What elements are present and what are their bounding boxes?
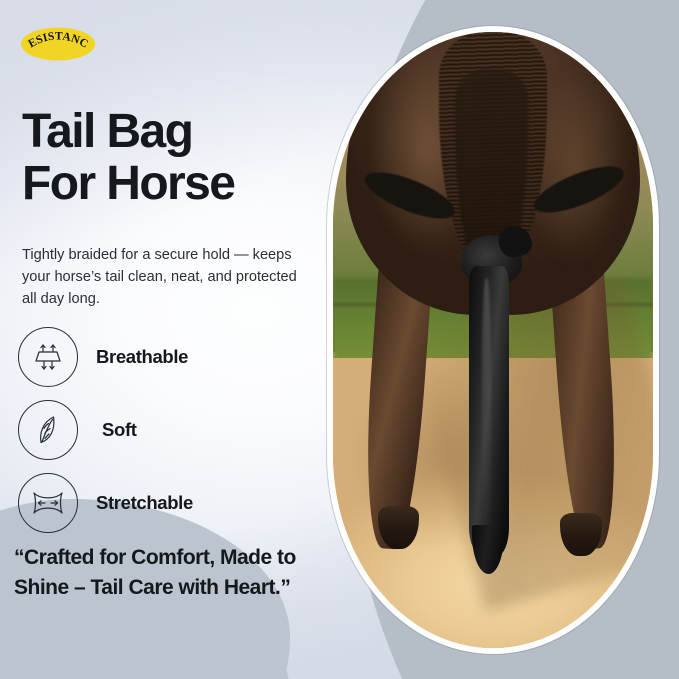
feature-item-soft: Soft [18,393,328,466]
quote-line-1: “Crafted for Comfort, Made to [14,543,344,573]
product-photo-frame [327,26,659,654]
feature-label-stretchable: Stretchable [96,492,193,514]
brand-logo-badge: RESISTANCE [20,26,96,62]
resistance-logo-icon: RESISTANCE [20,26,96,62]
feature-item-stretchable: Stretchable [18,466,328,539]
feather-icon [18,400,78,460]
feature-item-breathable: Breathable [18,320,328,393]
feature-label-soft: Soft [102,419,137,441]
content-column: RESISTANCE Tail Bag For Horse Tightly br… [0,0,345,679]
breathable-fabric-airflow-icon [18,327,78,387]
feature-list: Breathable Soft [18,320,328,539]
tail-bag-highlight [482,278,492,537]
tagline-quote: “Crafted for Comfort, Made to Shine – Ta… [14,543,344,603]
product-photo [333,32,653,648]
quote-line-2: Shine – Tail Care with Heart.” [14,573,344,603]
stretch-fabric-arrows-icon [18,473,78,533]
product-infographic-canvas: RESISTANCE Tail Bag For Horse Tightly br… [0,0,679,679]
headline-line-1: Tail Bag [22,106,327,158]
headline-line-2: For Horse [22,158,327,210]
subcopy-text: Tightly braided for a secure hold — keep… [22,244,300,311]
page-title: Tail Bag For Horse [22,106,327,210]
feature-label-breathable: Breathable [96,346,188,368]
